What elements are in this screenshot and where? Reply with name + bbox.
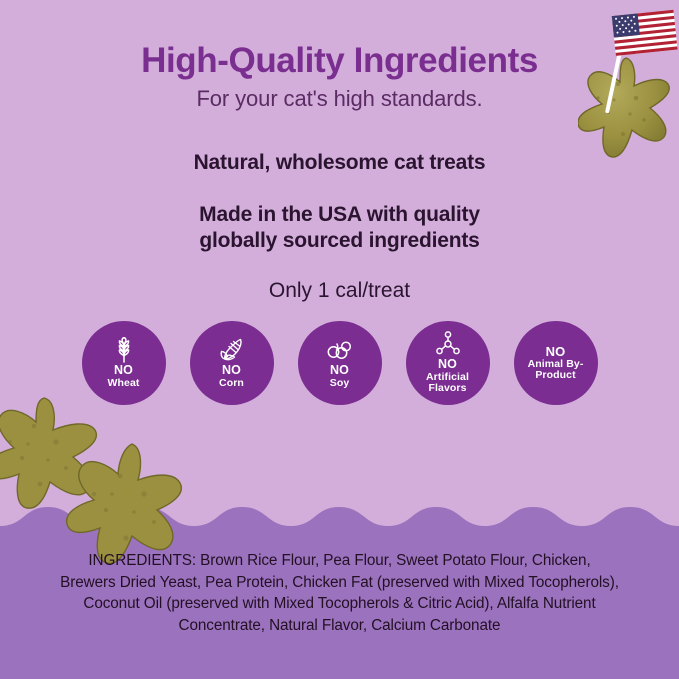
badge-no-animal-by-product-no: NO (514, 345, 598, 359)
product-info-poster: High-Quality Ingredients For your cat's … (0, 0, 679, 679)
badge-no-soy-label: NO Soy (330, 364, 350, 389)
badge-no-soy: NO Soy (298, 321, 382, 405)
badge-no-corn: NO Corn (190, 321, 274, 405)
badge-no-corn-sub: Corn (219, 378, 244, 389)
claim-calories: Only 1 cal/treat (0, 279, 679, 303)
wheat-icon (112, 337, 136, 363)
page-title: High-Quality Ingredients (0, 42, 679, 81)
badge-no-wheat-no: NO (108, 364, 140, 378)
badge-no-artificial-flavors-sub: Artificial Flavors (406, 372, 490, 395)
badge-no-animal-by-product: NO Animal By-Product (514, 321, 598, 405)
badge-no-animal-by-product-label: NO Animal By-Product (514, 345, 598, 382)
claim-made-in-usa: Made in the USA with quality globally so… (0, 202, 679, 253)
claim-natural-wholesome: Natural, wholesome cat treats (0, 150, 679, 175)
badge-no-wheat-sub: Wheat (108, 378, 140, 389)
badge-no-corn-label: NO Corn (219, 364, 244, 389)
corn-icon (219, 337, 245, 363)
badge-no-artificial-flavors-label: NO Artificial Flavors (406, 358, 490, 394)
badge-no-soy-sub: Soy (330, 378, 350, 389)
claims-block: Natural, wholesome cat treats Made in th… (0, 150, 679, 303)
badge-no-artificial-flavors: NO Artificial Flavors (406, 321, 490, 405)
badge-no-wheat: NO Wheat (82, 321, 166, 405)
badge-no-animal-by-product-sub: Animal By-Product (514, 359, 598, 382)
page-subtitle: For your cat's high standards. (0, 86, 679, 112)
badge-no-soy-no: NO (330, 364, 350, 378)
claim-made-in-usa-line1: Made in the USA with quality (0, 202, 679, 228)
molecule-icon (436, 331, 460, 357)
soy-icon (326, 337, 354, 363)
claim-made-in-usa-line2: globally sourced ingredients (0, 228, 679, 254)
ingredients-text: INGREDIENTS: Brown Rice Flour, Pea Flour… (60, 550, 619, 637)
badge-no-wheat-label: NO Wheat (108, 364, 140, 389)
badge-row: NO Wheat NO Corn (0, 321, 679, 411)
badge-no-artificial-flavors-no: NO (406, 358, 490, 372)
badge-no-corn-no: NO (219, 364, 244, 378)
